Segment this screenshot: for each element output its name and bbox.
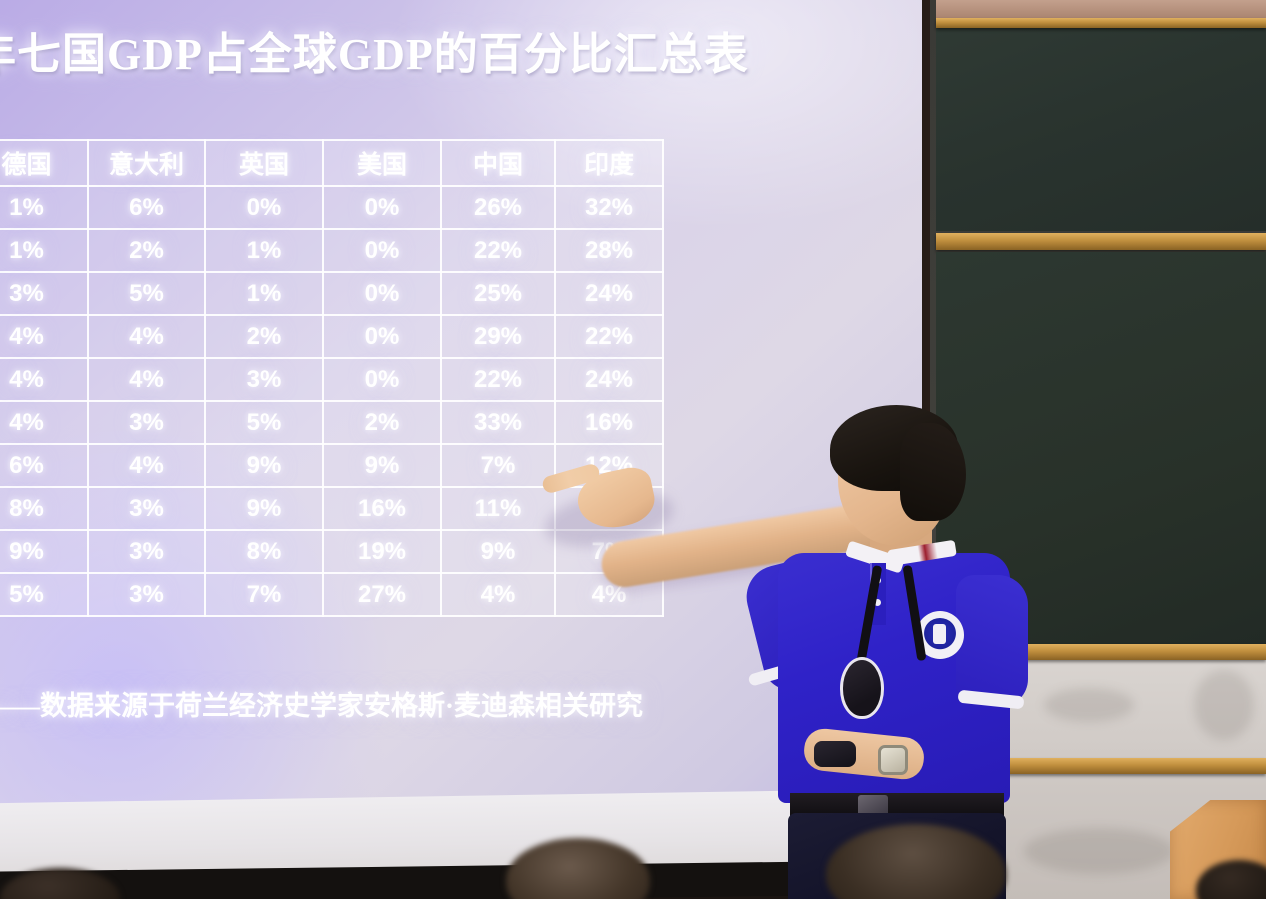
hair-back <box>900 423 966 521</box>
cell: 5% <box>205 401 323 444</box>
cell: 7% <box>441 444 555 487</box>
cell: 5% <box>0 573 88 616</box>
cell: 26% <box>441 186 555 229</box>
slide-source-caption: ——数据来源于荷兰经济史学家安格斯·麦迪森相关研究 <box>0 684 786 723</box>
classroom-lecture-scene: 年七国GDP占全球GDP的百分比汇总表 德国 意大利 英国 美国 中国 印度 1… <box>0 0 1266 899</box>
cell: 24% <box>555 272 663 315</box>
cell: 9% <box>205 444 323 487</box>
cell: 3% <box>205 358 323 401</box>
right-sleeve <box>956 575 1028 707</box>
cell: 22% <box>555 315 663 358</box>
cell: 0% <box>205 186 323 229</box>
cell: 9% <box>205 487 323 530</box>
cell: 28% <box>555 229 663 272</box>
cell: 8% <box>205 530 323 573</box>
column-header-germany: 德国 <box>0 140 88 186</box>
cell: 9% <box>323 444 441 487</box>
cell: 3% <box>88 530 205 573</box>
cell: 7% <box>205 573 323 616</box>
cell: 11% <box>441 487 555 530</box>
column-header-italy: 意大利 <box>88 140 205 186</box>
cell: 1% <box>0 229 88 272</box>
cell: 16% <box>555 401 663 444</box>
cell: 22% <box>441 229 555 272</box>
cell: 2% <box>205 315 323 358</box>
cell: 6% <box>0 444 88 487</box>
table-row: 3% 5% 1% 0% 25% 24% <box>0 272 663 315</box>
cell: 6% <box>88 186 205 229</box>
table-header-row: 德国 意大利 英国 美国 中国 印度 <box>0 140 663 186</box>
gdp-percentage-table: 德国 意大利 英国 美国 中国 印度 1% 6% 0% 0% 26% 32% <box>0 139 664 617</box>
slide-title: 年七国GDP占全球GDP的百分比汇总表 <box>0 18 782 82</box>
cell: 9% <box>0 530 88 573</box>
cell: 22% <box>441 358 555 401</box>
cell: 16% <box>323 487 441 530</box>
chalk-rail-top <box>936 18 1266 28</box>
chalkboard-upper <box>936 20 1266 231</box>
cell: 3% <box>88 487 205 530</box>
cell: 33% <box>441 401 555 444</box>
cell: 2% <box>88 229 205 272</box>
cell: 8% <box>0 487 88 530</box>
table-row: 1% 2% 1% 0% 22% 28% <box>0 229 663 272</box>
cell: 3% <box>88 401 205 444</box>
table-row: 5% 3% 7% 27% 4% 4% <box>0 573 663 616</box>
table-row: 4% 3% 5% 2% 33% 16% <box>0 401 663 444</box>
column-header-usa: 美国 <box>323 140 441 186</box>
cell: 4% <box>0 315 88 358</box>
column-header-china: 中国 <box>441 140 555 186</box>
table-row: 1% 6% 0% 0% 26% 32% <box>0 186 663 229</box>
cell: 0% <box>323 358 441 401</box>
cell: 4% <box>88 315 205 358</box>
cell: 1% <box>0 186 88 229</box>
cell: 0% <box>323 272 441 315</box>
cell: 0% <box>323 186 441 229</box>
cell: 4% <box>0 358 88 401</box>
cell: 4% <box>441 573 555 616</box>
cell: 3% <box>0 272 88 315</box>
table-row: 4% 4% 2% 0% 29% 22% <box>0 315 663 358</box>
cell: 2% <box>323 401 441 444</box>
cell: 24% <box>555 358 663 401</box>
cell: 1% <box>205 229 323 272</box>
cell: 0% <box>323 315 441 358</box>
cell: 25% <box>441 272 555 315</box>
id-badge <box>840 657 884 719</box>
chalkboard-top-trim <box>936 0 1266 20</box>
cell: 1% <box>205 272 323 315</box>
cell: 32% <box>555 186 663 229</box>
cell: 5% <box>88 272 205 315</box>
chalk-rail-middle <box>936 233 1266 250</box>
column-header-india: 印度 <box>555 140 663 186</box>
presentation-clicker <box>814 741 856 767</box>
cell: 4% <box>88 444 205 487</box>
cell: 4% <box>88 358 205 401</box>
cell: 29% <box>441 315 555 358</box>
table-row: 4% 4% 3% 0% 22% 24% <box>0 358 663 401</box>
cell: 27% <box>323 573 441 616</box>
cell: 3% <box>88 573 205 616</box>
column-header-uk: 英国 <box>205 140 323 186</box>
cell: 0% <box>323 229 441 272</box>
wristwatch <box>878 745 908 775</box>
cell: 19% <box>323 530 441 573</box>
cell: 4% <box>0 401 88 444</box>
cell: 9% <box>441 530 555 573</box>
